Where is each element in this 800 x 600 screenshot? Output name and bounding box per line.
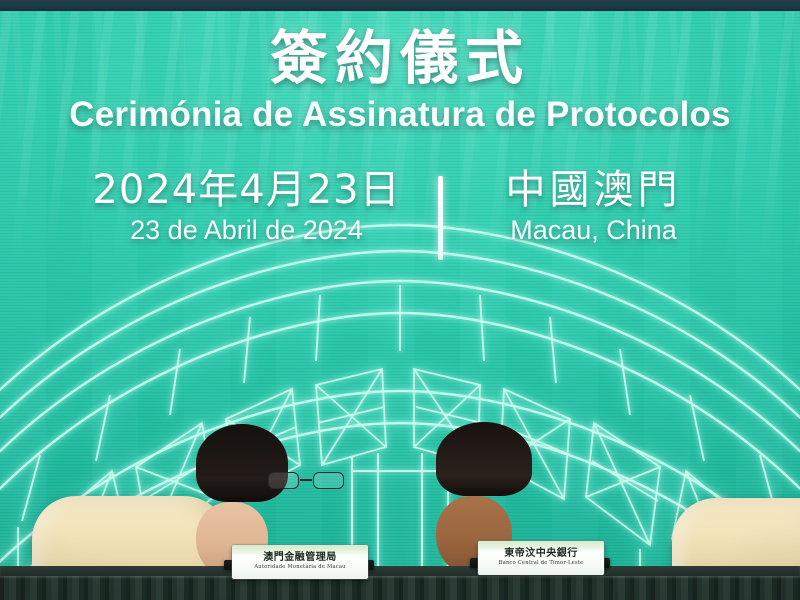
- top-dark-band: [0, 0, 800, 11]
- date-chinese: 2024年4月23日: [82, 168, 412, 213]
- banner-meta: 2024年4月23日 23 de Abril de 2024 中國澳門 Maca…: [0, 168, 800, 260]
- date-portuguese: 23 de Abril de 2024: [82, 215, 412, 246]
- nameplate-left: 澳門金融管理局 Autoridade Monetária de Macau: [232, 545, 368, 579]
- nameplate-right: 東帝汶中央銀行 Banco Central de Timor-Leste: [478, 541, 604, 575]
- banner-headline: 簽約儀式 Cerimónia de Assinatura de Protocol…: [0, 0, 800, 135]
- location-chinese: 中國澳門: [469, 168, 719, 213]
- table-skirt: [0, 576, 800, 600]
- nameplate-org-portuguese: Autoridade Monetária de Macau: [232, 565, 368, 570]
- hair: [436, 422, 532, 496]
- glasses-lens-left: [268, 472, 299, 489]
- meta-divider: [438, 176, 443, 260]
- nameplate-org-chinese: 澳門金融管理局: [232, 553, 368, 563]
- glasses-lens-right: [313, 472, 344, 489]
- nameplate-org-chinese: 東帝汶中央銀行: [478, 549, 604, 559]
- location-block: 中國澳門 Macau, China: [469, 168, 719, 246]
- hair: [196, 424, 288, 502]
- title-portuguese: Cerimónia de Assinatura de Protocolos: [0, 95, 800, 135]
- title-chinese: 簽約儀式: [0, 28, 800, 89]
- glasses-icon: [266, 472, 346, 489]
- screenshot-root: 簽約儀式 Cerimónia de Assinatura de Protocol…: [0, 0, 800, 600]
- nameplate-org-portuguese: Banco Central de Timor-Leste: [478, 561, 604, 566]
- glasses-bridge: [300, 479, 312, 481]
- date-block: 2024年4月23日 23 de Abril de 2024: [82, 168, 412, 246]
- location-portuguese: Macau, China: [469, 215, 719, 246]
